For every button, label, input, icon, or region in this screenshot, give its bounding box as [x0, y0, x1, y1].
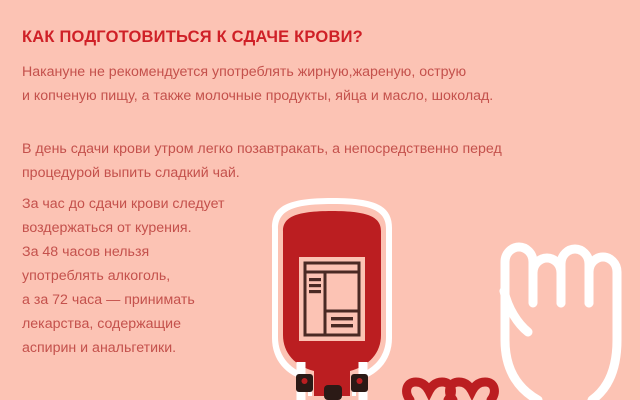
text-line: За 48 часов нельзя [22, 240, 225, 264]
text-line: Накануне не рекомендуется употреблять жи… [22, 60, 493, 84]
paragraph-morning: В день сдачи крови утром легко позавтрак… [22, 137, 502, 185]
text-line: воздержаться от курения. [22, 216, 225, 240]
text-line: употреблять алкоголь, [22, 264, 225, 288]
text-line: лекарства, содержащие [22, 312, 225, 336]
paragraph-intro: Накануне не рекомендуется употреблять жи… [22, 60, 493, 108]
page-title: КАК ПОДГОТОВИТЬСЯ К СДАЧЕ КРОВИ? [22, 28, 363, 47]
text-line: и копченую пищу, а также молочные продук… [22, 84, 493, 108]
text-line: За час до сдачи крови следует [22, 192, 225, 216]
text-line: В день сдачи крови утром легко позавтрак… [22, 137, 502, 161]
poster-canvas: КАК ПОДГОТОВИТЬСЯ К СДАЧЕ КРОВИ? Наканун… [0, 0, 640, 400]
text-line: аспирин и анальгетики. [22, 336, 225, 360]
text-layer: КАК ПОДГОТОВИТЬСЯ К СДАЧЕ КРОВИ? Наканун… [0, 0, 640, 400]
paragraph-rules: За час до сдачи крови следует воздержать… [22, 192, 225, 360]
text-line: а за 72 часа — принимать [22, 288, 225, 312]
text-line: процедурой выпить сладкий чай. [22, 161, 502, 185]
